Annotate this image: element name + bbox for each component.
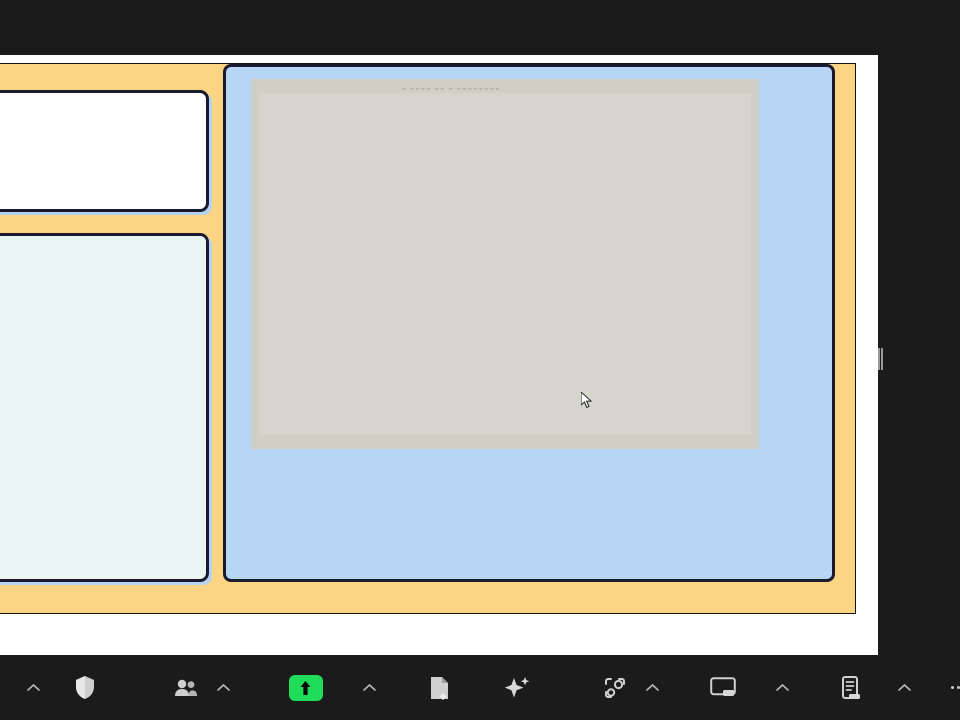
whiteboard-icon[interactable] [831,666,869,710]
sparkle-ai-icon[interactable] [498,666,536,710]
slide-right-panel: ⁃ ⁃⁃⁃⁃ ⁃⁃ ⁃ ⁃⁃⁃⁃⁃⁃⁃⁃ ⁃⁃⁃ ⁃⁃⁃⁃⁃ ⁃⁃⁃ ⁃⁃ ⁃⁃… [223,64,835,582]
more-dots [951,686,960,689]
chevron-up-icon[interactable] [644,666,662,710]
chevron-up-icon[interactable] [361,666,379,710]
slide-title-card [0,90,209,212]
chart-plot-area [259,93,751,435]
enzyme-table-heading [0,236,206,249]
chevron-up-icon[interactable] [773,666,791,710]
share-screen-icon[interactable] [704,666,742,710]
enzyme-table-card [0,233,209,582]
shared-content-stage[interactable]: ⁃ ⁃⁃⁃⁃ ⁃⁃ ⁃ ⁃⁃⁃⁃⁃⁃⁃⁃ ⁃⁃⁃ ⁃⁃⁃⁃⁃ ⁃⁃⁃ ⁃⁃ ⁃⁃… [0,55,878,655]
participants-icon[interactable] [174,666,203,710]
task-block [226,457,838,468]
mouse-cursor [581,392,593,409]
raise-hand-button[interactable] [289,666,323,710]
chevron-up-icon[interactable] [895,666,913,710]
presentation-slide: ⁃ ⁃⁃⁃⁃ ⁃⁃ ⁃ ⁃⁃⁃⁃⁃⁃⁃⁃ ⁃⁃⁃ ⁃⁃⁃⁃⁃ ⁃⁃⁃ ⁃⁃ ⁃⁃… [0,63,856,614]
panel-resize-handle[interactable] [878,348,884,370]
shield-icon[interactable] [66,666,104,710]
notes-icon[interactable] [421,666,459,710]
chart-svg [259,93,751,435]
chevron-up-icon[interactable] [24,666,42,710]
chevron-up-icon[interactable] [215,666,233,710]
reactions-icon[interactable] [596,666,634,710]
slide-left-column [0,90,213,582]
meeting-window: ⁃ ⁃⁃⁃⁃ ⁃⁃ ⁃ ⁃⁃⁃⁃⁃⁃⁃⁃ ⁃⁃⁃ ⁃⁃⁃⁃⁃ ⁃⁃⁃ ⁃⁃ ⁃⁃… [0,0,960,720]
participant-video-rail[interactable] [936,55,960,655]
more-options-icon[interactable] [951,666,960,710]
chart-figure: ⁃ ⁃⁃⁃⁃ ⁃⁃ ⁃ ⁃⁃⁃⁃⁃⁃⁃⁃ ⁃⁃⁃ ⁃⁃⁃⁃⁃ ⁃⁃⁃ ⁃⁃ ⁃⁃… [251,79,759,449]
meeting-toolbar[interactable] [0,655,960,720]
